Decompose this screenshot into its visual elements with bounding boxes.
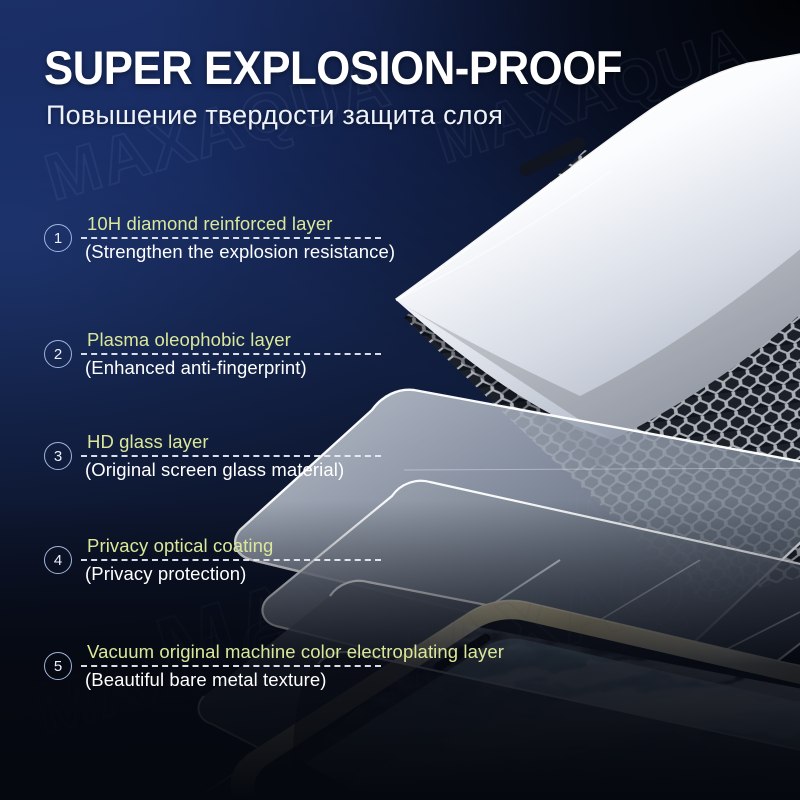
layer-number-badge: 3	[44, 442, 72, 470]
layer-text-group: 10H diamond reinforced layer (Strengthen…	[81, 213, 399, 263]
list-item: 1 10H diamond reinforced layer (Strength…	[44, 213, 399, 263]
layer-sublabel: (Enhanced anti-fingerprint)	[81, 355, 381, 379]
layer-text-group: Privacy optical coating (Privacy protect…	[81, 535, 381, 585]
dashed-divider	[81, 237, 381, 239]
dashed-divider	[81, 353, 381, 355]
list-item: 5 Vacuum original machine color electrop…	[44, 641, 508, 691]
layer-number-badge: 1	[44, 224, 72, 252]
dashed-divider	[81, 559, 381, 561]
list-item: 4 Privacy optical coating (Privacy prote…	[44, 535, 381, 585]
layer-sublabel: (Original screen glass material)	[81, 457, 381, 481]
layer-text-group: Vacuum original machine color electropla…	[81, 641, 508, 691]
layer-number-badge: 4	[44, 546, 72, 574]
layer-sublabel: (Privacy protection)	[81, 561, 381, 585]
layer-number-badge: 2	[44, 340, 72, 368]
list-item: 2 Plasma oleophobic layer (Enhanced anti…	[44, 329, 381, 379]
layer-sublabel: (Beautiful bare metal texture)	[81, 667, 508, 691]
layer-list: 1 10H diamond reinforced layer (Strength…	[0, 0, 800, 800]
layer-number-badge: 5	[44, 652, 72, 680]
dashed-divider	[81, 455, 381, 457]
layer-label: Plasma oleophobic layer	[81, 329, 381, 353]
infographic-canvas: MAXAQUA MAXAQUA MAXAQUA MAXAQUA MAXAQUA	[0, 0, 800, 800]
layer-text-group: Plasma oleophobic layer (Enhanced anti-f…	[81, 329, 381, 379]
list-item: 3 HD glass layer (Original screen glass …	[44, 431, 381, 481]
dashed-divider	[81, 665, 381, 667]
layer-label: 10H diamond reinforced layer	[81, 213, 399, 237]
layer-sublabel: (Strengthen the explosion resistance)	[81, 239, 399, 263]
layer-text-group: HD glass layer (Original screen glass ma…	[81, 431, 381, 481]
layer-label: Vacuum original machine color electropla…	[81, 641, 508, 665]
layer-label: Privacy optical coating	[81, 535, 381, 559]
layer-label: HD glass layer	[81, 431, 381, 455]
